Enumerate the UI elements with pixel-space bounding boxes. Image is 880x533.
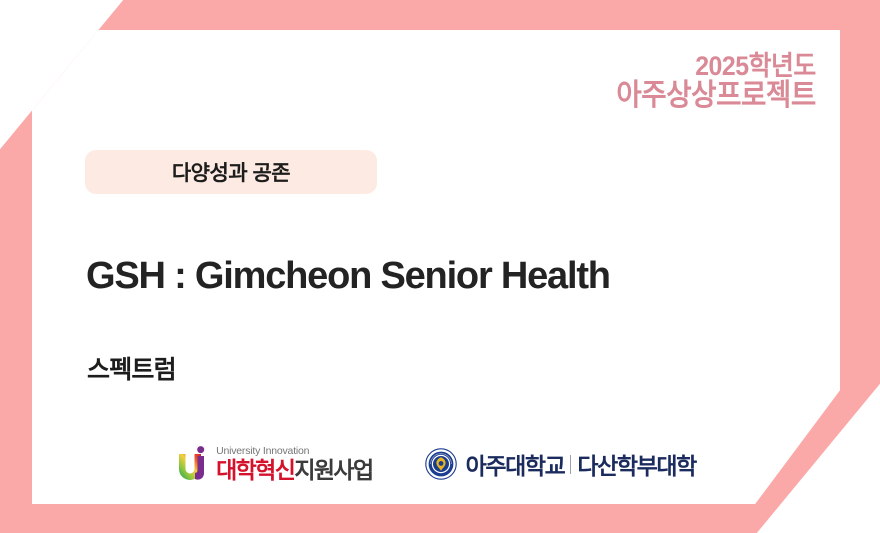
university-innovation-text: University Innovation 대학혁신지원사업 xyxy=(216,446,373,482)
ajou-university-logo: 아주대학교 다산학부대학 xyxy=(425,447,696,481)
university-innovation-korean-rest: 지원사업 xyxy=(294,457,372,483)
ajou-university-name: 아주대학교 xyxy=(466,447,565,481)
university-innovation-mark-icon xyxy=(176,445,210,483)
project-title: GSH : Gimcheon Senior Health xyxy=(86,255,610,298)
university-innovation-korean: 대학혁신지원사업 xyxy=(216,459,373,482)
category-badge: 다양성과 공존 xyxy=(85,150,377,194)
ajou-seal-icon xyxy=(425,448,457,480)
ajou-divider xyxy=(570,455,571,474)
team-name: 스펙트럼 xyxy=(87,350,176,386)
university-innovation-logo: University Innovation 대학혁신지원사업 xyxy=(176,445,373,483)
university-innovation-korean-accent: 대학혁신 xyxy=(216,457,294,483)
ajou-college-name: 다산학부대학 xyxy=(577,447,696,481)
program-name: 아주상상프로젝트 xyxy=(617,80,816,111)
category-badge-label: 다양성과 공존 xyxy=(172,157,290,187)
slide-frame: 2025학년도 아주상상프로젝트 다양성과 공존 GSH : Gimcheon … xyxy=(0,0,880,533)
university-innovation-english: University Innovation xyxy=(216,446,373,457)
program-year: 2025학년도 xyxy=(617,52,816,80)
program-title: 2025학년도 아주상상프로젝트 xyxy=(599,52,816,111)
logo-strip: University Innovation 대학혁신지원사업 아주대학교 xyxy=(32,445,840,483)
slide-card: 2025학년도 아주상상프로젝트 다양성과 공존 GSH : Gimcheon … xyxy=(32,30,840,504)
ajou-wordmark: 아주대학교 다산학부대학 xyxy=(466,447,696,481)
